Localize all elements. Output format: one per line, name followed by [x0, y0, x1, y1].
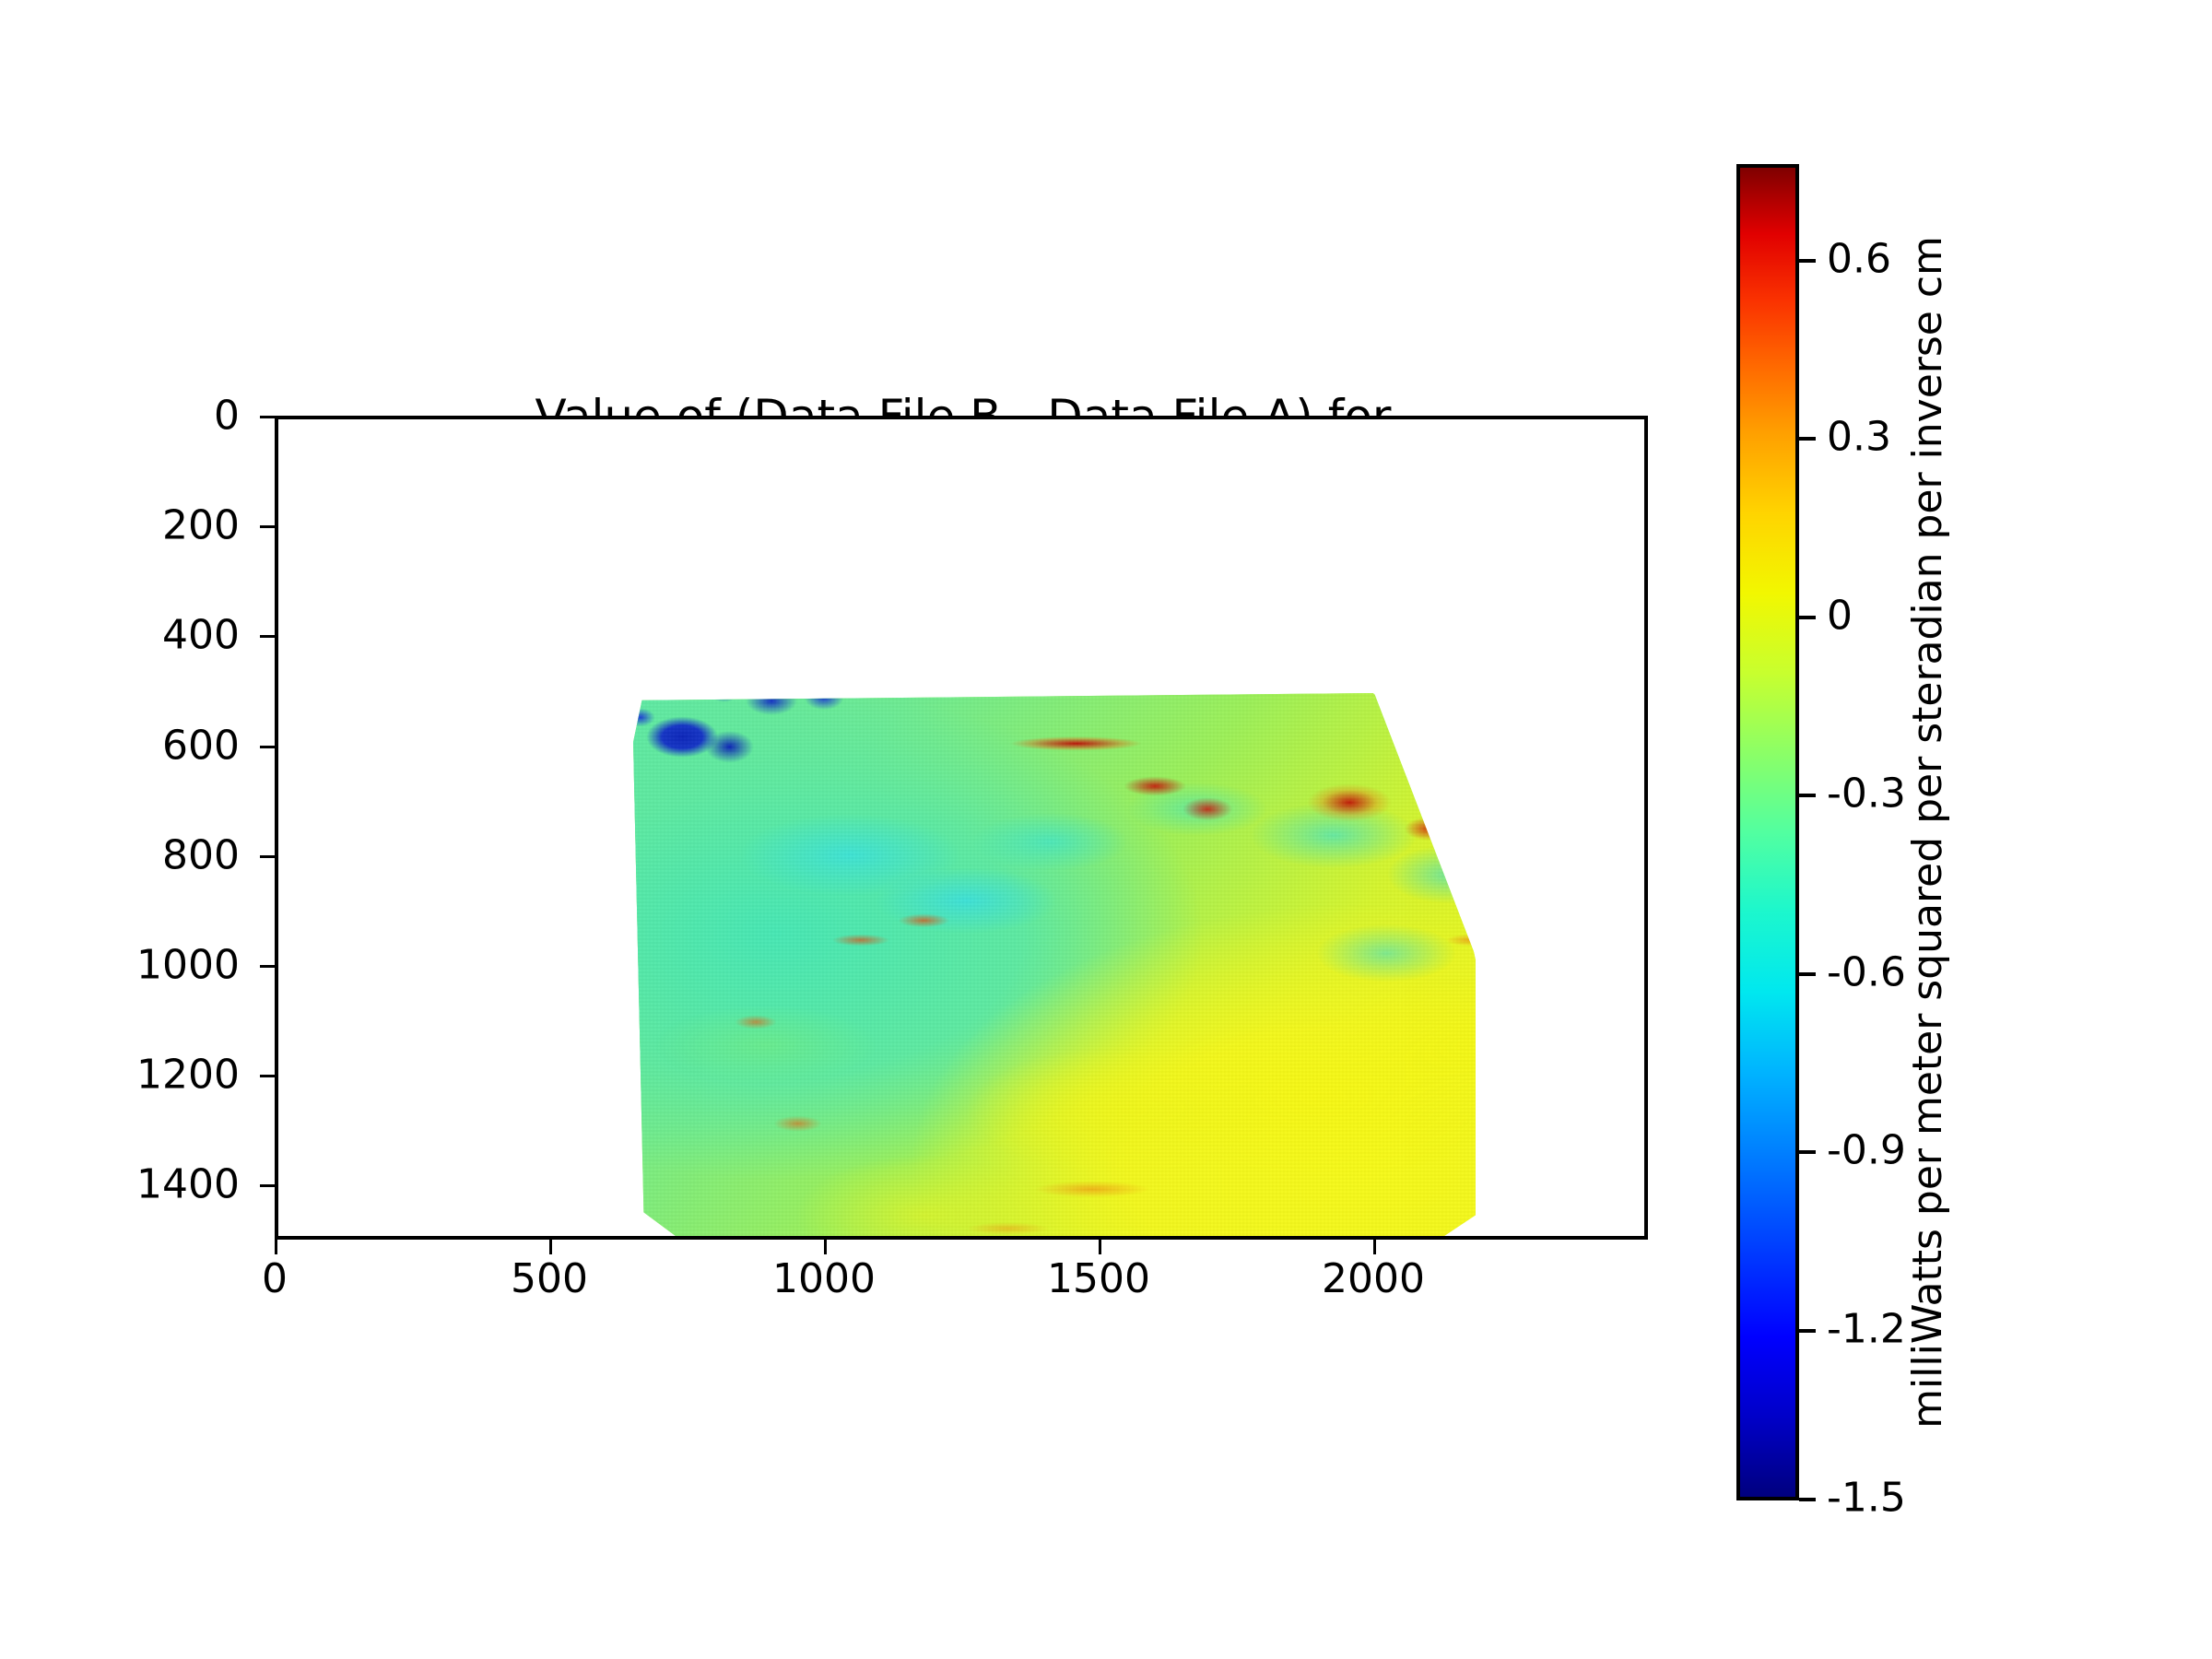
x-tick-label: 0: [262, 1255, 288, 1302]
y-tickmark-200: [260, 525, 275, 528]
x-tick-label: 1500: [1047, 1255, 1150, 1302]
y-tick-label: 1200: [136, 1052, 240, 1099]
y-tickmark-1200: [260, 1075, 275, 1077]
y-tick-label: 600: [162, 723, 240, 770]
x-tickmark-0: [275, 1240, 277, 1254]
x-tickmark-1500: [1099, 1240, 1101, 1254]
cb-tick-label: -0.9: [1827, 1127, 1906, 1174]
heatmap-data-area: [278, 419, 1644, 1236]
colorbar-axis-label-text: milliWatts per meter squared per steradi…: [1902, 164, 1954, 1500]
x-tickmark-500: [549, 1240, 552, 1254]
y-tickmark-400: [260, 635, 275, 638]
cb-tickmark--0.3: [1799, 794, 1816, 797]
cb-tickmark-0.3: [1799, 437, 1816, 441]
cb-tickmark-0.6: [1799, 259, 1816, 263]
y-tickmark-1000: [260, 965, 275, 968]
y-tickmark-600: [260, 746, 275, 748]
cb-tick-label: -0.3: [1827, 771, 1906, 818]
main-plot-axes: [275, 416, 1648, 1240]
cb-tick-label: 0.3: [1827, 414, 1891, 461]
y-axis-tick-labels: 0 200 400 600 800 1000 1200 1400: [0, 416, 256, 1240]
y-tick-label: 1400: [136, 1161, 240, 1208]
x-tick-label: 2000: [1322, 1255, 1425, 1302]
cb-tickmark--1.5: [1799, 1498, 1816, 1501]
cb-tick-label: -1.2: [1827, 1306, 1906, 1353]
cb-tickmark-0: [1799, 616, 1816, 619]
cb-tickmark--1.2: [1799, 1329, 1816, 1333]
x-tickmark-1000: [824, 1240, 827, 1254]
y-tick-label: 400: [162, 612, 240, 659]
swath-pixel-grain: [633, 693, 1509, 1240]
colorbar-axis-label: milliWatts per meter squared per steradi…: [1902, 164, 1958, 1500]
cb-tickmark--0.9: [1799, 1150, 1816, 1154]
y-tickmark-800: [260, 855, 275, 858]
x-tick-label: 1000: [772, 1255, 876, 1302]
cb-tick-label: 0: [1827, 593, 1853, 640]
x-axis-tick-labels: 0 500 1000 1500 2000: [275, 1255, 1648, 1320]
colorbar: [1736, 164, 1799, 1500]
y-tick-label: 1000: [136, 942, 240, 989]
cb-tick-label: -0.6: [1827, 949, 1906, 996]
figure-canvas: Value of (Data File B - Data File A) for…: [0, 0, 2212, 1659]
y-tick-label: 200: [162, 502, 240, 549]
cb-tick-label: 0.6: [1827, 236, 1891, 283]
cb-tickmark--0.6: [1799, 972, 1816, 976]
y-tickmark-0: [260, 416, 275, 418]
x-tick-label: 500: [511, 1255, 588, 1302]
x-tickmark-2000: [1373, 1240, 1376, 1254]
y-tick-label: 0: [214, 393, 240, 440]
y-tick-label: 800: [162, 832, 240, 879]
cb-tick-label: -1.5: [1827, 1475, 1906, 1522]
y-tickmark-1400: [260, 1184, 275, 1187]
satellite-swath-image: [633, 693, 1509, 1240]
